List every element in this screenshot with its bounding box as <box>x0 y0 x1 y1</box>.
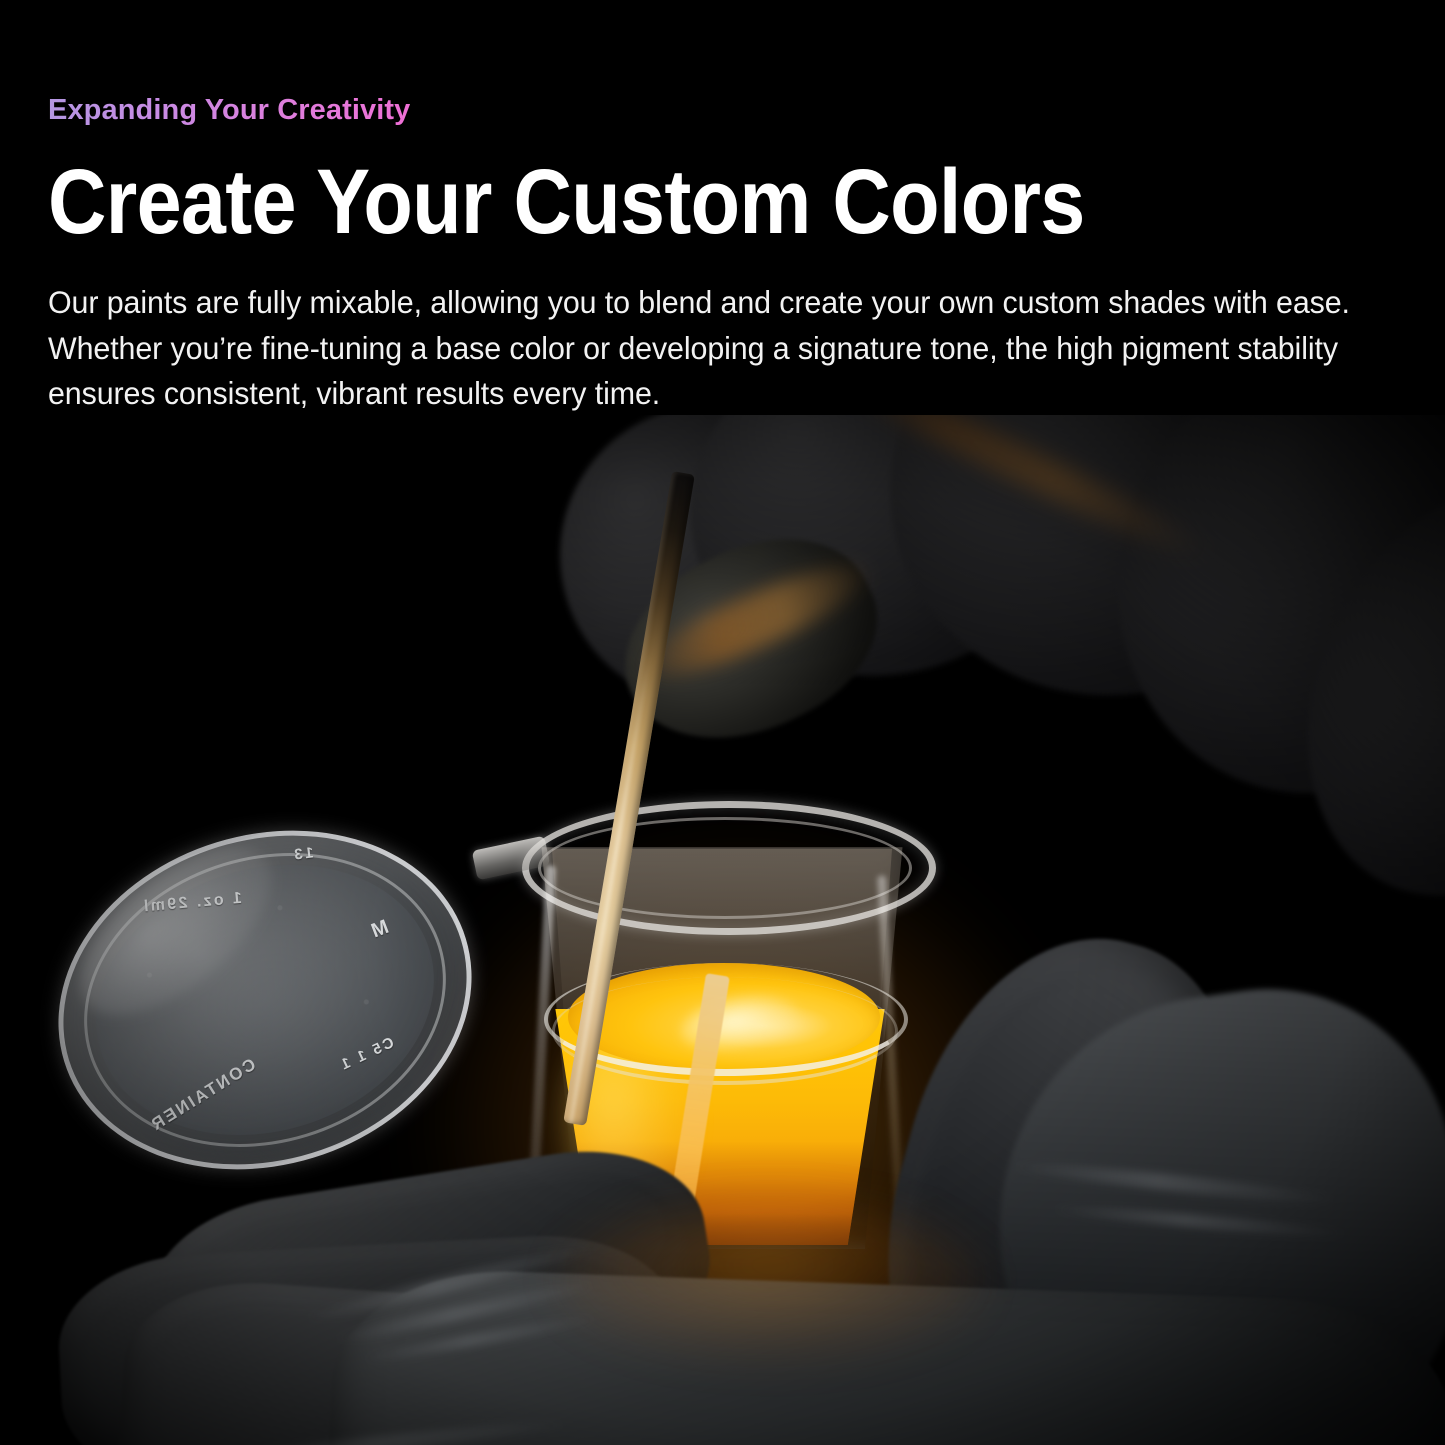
body-copy: Our paints are fully mixable, allowing y… <box>48 280 1351 416</box>
page-title: Create Your Custom Colors <box>48 159 1236 246</box>
headline-block: Expanding Your Creativity Create Your Cu… <box>48 96 1398 416</box>
eyebrow-text: Expanding Your Creativity <box>48 96 410 125</box>
product-banner: 1 oz. 29ml 13 M CONTAINER C5 1 1 Expandi… <box>0 0 1445 1445</box>
paint-bounce-light <box>560 1205 980 1355</box>
product-photo: 1 oz. 29ml 13 M CONTAINER C5 1 1 <box>0 415 1445 1445</box>
